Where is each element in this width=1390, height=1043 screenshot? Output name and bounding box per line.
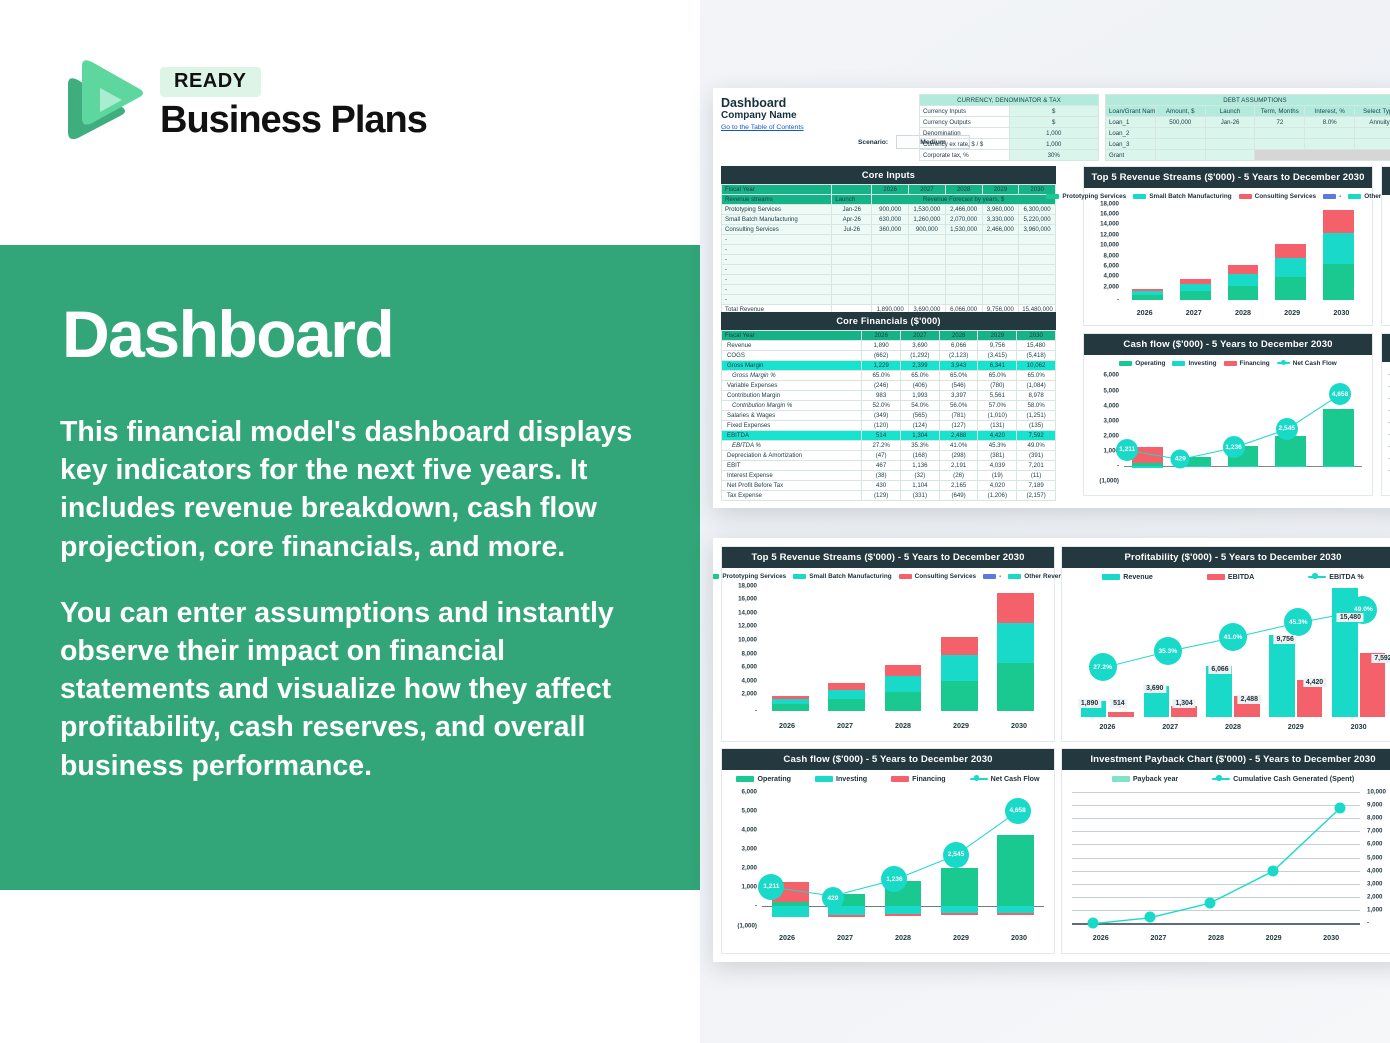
ci-value: 2,466,000	[982, 225, 1019, 235]
cf-value: (11)	[1017, 471, 1056, 481]
cf-value: (781)	[939, 411, 978, 421]
y-tick: 18,000	[1100, 200, 1119, 207]
cf-value: (1,251)	[1017, 411, 1056, 421]
legend-item[interactable]: Operating	[1119, 360, 1165, 367]
chart-title: Top 5 Revenue Streams ($'000) - 5 Years …	[722, 547, 1054, 568]
table-row[interactable]: -	[722, 235, 1056, 245]
bar-group[interactable]	[1275, 202, 1306, 301]
data-point-label: 1,211	[1116, 439, 1138, 461]
chart-legend: Prototyping Services Small Batch Manufac…	[722, 568, 1054, 582]
chart-revenue-streams: Top 5 Revenue Streams ($'000) - 5 Years …	[721, 546, 1055, 742]
ci-value	[1019, 255, 1056, 265]
chart-plot-area: 6,000 5,000 4,000 3,000 2,000 1,000 - (1…	[1088, 369, 1368, 485]
table-row: Gross Margin1,2292,3993,9436,34110,062	[722, 361, 1056, 371]
table-row: Contribution Margin9831,9933,3975,5618,9…	[722, 391, 1056, 401]
chart-cash-flow: Cash flow ($'000) - 5 Years to December …	[721, 748, 1055, 954]
ci-value	[872, 255, 909, 265]
legend-label: Small Batch Manufacturing	[809, 573, 891, 580]
ci-value	[1019, 295, 1056, 305]
cf-label: Tax Expense	[722, 491, 862, 501]
ci-stream-name: -	[722, 245, 832, 255]
cf-value: (47)	[862, 451, 901, 461]
table-row[interactable]: Loan_2	[1106, 128, 1390, 139]
debt-cell	[1305, 128, 1355, 139]
cf-value: (331)	[901, 491, 940, 501]
cf-value: (662)	[862, 351, 901, 361]
cf-value: (38)	[862, 471, 901, 481]
x-tick: 2026	[1137, 308, 1153, 317]
ci-value: 900,000	[872, 205, 909, 215]
x-tick: 2029	[1288, 722, 1304, 731]
currency-row-value[interactable]: $	[1009, 117, 1099, 128]
chart-legend: Operating Investing Financing Net Cash F…	[722, 770, 1054, 785]
chart-plot-area: 18,000 16,000 14,000 12,000 10,000 8,000…	[726, 582, 1050, 718]
ci-year: 2027	[909, 185, 946, 195]
y-tick: 6,000	[1104, 262, 1119, 269]
legend-label: -	[1339, 193, 1341, 200]
legend-label: EBITDA	[1228, 573, 1254, 581]
currency-row-value[interactable]: 1,000	[1009, 139, 1099, 150]
table-row[interactable]: Prototyping Services Jan-26 900,000 1,53…	[722, 205, 1056, 215]
currency-row-label: Currency ex rate, $ / $	[920, 139, 1010, 150]
ci-value: 360,000	[872, 225, 909, 235]
x-tick: 2026	[779, 721, 795, 730]
ci-value	[1019, 265, 1056, 275]
bar-group[interactable]	[1228, 202, 1259, 301]
cf-value: 1,136	[901, 461, 940, 471]
brand-logo: READY Business Plans	[62, 58, 427, 148]
x-tick: 2028	[1235, 308, 1251, 317]
table-row[interactable]: Consulting Services Jul-26 360,000 900,0…	[722, 225, 1056, 235]
chart-investment-payback: Investment Payback Chart ($'000) - 5 Yea…	[1061, 748, 1390, 954]
currency-row-value[interactable]: 1,000	[1009, 128, 1099, 139]
cf-value: (349)	[862, 411, 901, 421]
cf-value: 8,978	[1017, 391, 1056, 401]
cf-value: (124)	[901, 421, 940, 431]
legend-item[interactable]: EBITDA	[1207, 573, 1254, 581]
cf-value: 41.0%	[939, 441, 978, 451]
bar-value-label: 3,690	[1143, 684, 1166, 693]
legend-item[interactable]: Cumulative Cash Generated (Spent)	[1212, 775, 1354, 783]
cf-value: 6,066	[939, 341, 978, 351]
ci-stream-name: -	[722, 235, 832, 245]
ci-value	[1019, 285, 1056, 295]
table-row: Contribution Margin %52.0%54.0%56.0%57.0…	[722, 401, 1056, 411]
cf-value: 7,592	[1017, 431, 1056, 441]
cf-value: (131)	[978, 421, 1017, 431]
cf-value: (32)	[901, 471, 940, 481]
legend-item[interactable]: Net Cash Flow	[970, 775, 1040, 783]
debt-cell	[1155, 128, 1205, 139]
debt-cell: Annuity	[1355, 117, 1390, 128]
x-tick: 2027	[1162, 722, 1178, 731]
ci-value	[945, 235, 982, 245]
x-tick: 2030	[1323, 933, 1339, 942]
cf-year: 2026	[862, 331, 901, 341]
dashboard-sheet-bottom: Top 5 Revenue Streams ($'000) - 5 Years …	[713, 538, 1390, 962]
data-point	[1334, 802, 1345, 813]
cf-value: 56.0%	[939, 401, 978, 411]
legend-item[interactable]: Net Cash Flow	[1277, 360, 1337, 367]
legend-label: Investing	[836, 775, 867, 783]
x-tick: 2029	[1284, 308, 1300, 317]
ci-year-spacer	[832, 185, 872, 195]
legend-label: Net Cash Flow	[1293, 360, 1337, 367]
debt-cell	[1255, 139, 1305, 150]
data-point	[1268, 865, 1279, 876]
cf-value: (1,206)	[978, 491, 1017, 501]
ci-stream-name: -	[722, 265, 832, 275]
bar-group[interactable]	[772, 582, 809, 711]
spreadsheet-area: Dashboard Company Name Go to the Table o…	[713, 88, 1390, 508]
cf-value: 15,480	[1017, 341, 1056, 351]
bar-value-label: 7,592	[1371, 654, 1390, 663]
x-tick: 2029	[953, 721, 969, 730]
legend-item[interactable]: Prototyping Services	[713, 573, 786, 580]
debt-cell: Loan_2	[1106, 128, 1156, 139]
table-row[interactable]: -	[722, 265, 1056, 275]
legend-label: Financing	[912, 775, 946, 783]
cf-value: (120)	[862, 421, 901, 431]
table-row[interactable]: -	[722, 275, 1056, 285]
data-point-label: 429	[1171, 449, 1190, 468]
cf-value: (780)	[978, 381, 1017, 391]
cf-value: 49.0%	[1017, 441, 1056, 451]
debt-cell	[1355, 128, 1390, 139]
ci-value	[909, 285, 946, 295]
debt-col-header: Term, Months	[1255, 106, 1305, 117]
y-tick: 16,000	[1100, 210, 1119, 217]
legend-item[interactable]: Financing	[1224, 360, 1270, 367]
core-financials-table: Core Financials ($'000) Fiscal Year 2026…	[721, 312, 1056, 501]
bar-value-label: 9,756	[1274, 635, 1297, 644]
data-point	[1087, 918, 1098, 929]
cf-value: 514	[862, 431, 901, 441]
cf-value: (26)	[939, 471, 978, 481]
cf-value: 467	[862, 461, 901, 471]
x-tick: 2028	[1225, 722, 1241, 731]
cf-label: EBITDA %	[722, 441, 862, 451]
ci-value: 2,466,000	[945, 205, 982, 215]
cf-label: Contribution Margin	[722, 391, 862, 401]
debt-cell: Grant	[1106, 150, 1156, 161]
hero-description: This financial model's dashboard display…	[60, 413, 660, 785]
ci-value	[982, 285, 1019, 295]
debt-cell	[1205, 150, 1255, 161]
legend-item[interactable]: Investing	[815, 775, 867, 783]
data-point-label: 1,236	[1223, 436, 1245, 458]
ci-value	[872, 245, 909, 255]
ci-value	[909, 275, 946, 285]
ci-launch	[832, 265, 872, 275]
cf-value: (1,010)	[978, 411, 1017, 421]
currency-row-value[interactable]: $	[1009, 106, 1099, 117]
cf-value: 57.0%	[978, 401, 1017, 411]
debt-cell	[1205, 139, 1255, 150]
ci-value	[909, 265, 946, 275]
table-row[interactable]: Small Batch Manufacturing Apr-26 630,000…	[722, 215, 1056, 225]
bar-group[interactable]	[885, 582, 922, 711]
debt-cell	[1305, 139, 1355, 150]
ci-value	[1019, 275, 1056, 285]
ci-stream-name: -	[722, 295, 832, 305]
debt-col-header: Select Type	[1355, 106, 1390, 117]
legend-label: Prototyping Services	[1062, 193, 1126, 200]
ci-value: 1,530,000	[945, 225, 982, 235]
table-row: Revenue1,8903,6906,0669,75615,480	[722, 341, 1056, 351]
bar-value-label: 6,066	[1208, 665, 1231, 674]
bar-group[interactable]	[828, 582, 865, 711]
x-tick: 2030	[1011, 721, 1027, 730]
cf-value: (565)	[901, 411, 940, 421]
y-axis: 18,000 16,000 14,000 12,000 10,000 8,000…	[1088, 202, 1122, 306]
legend-label: Payback year	[1133, 775, 1178, 783]
ci-launch	[832, 285, 872, 295]
ci-value	[982, 255, 1019, 265]
fiscal-year-label: Fiscal Year	[722, 185, 832, 195]
x-tick: 2028	[895, 721, 911, 730]
bar-group[interactable]	[1180, 202, 1211, 301]
ci-value: 3,960,000	[982, 205, 1019, 215]
cf-value: 65.0%	[901, 371, 940, 381]
cf-year: 2030	[1017, 331, 1056, 341]
cf-value: (1,084)	[1017, 381, 1056, 391]
cf-value: (391)	[1017, 451, 1056, 461]
chart-plot-area: 6,000 5,000 4,000 3,000 2,000 1,000 - (1…	[726, 785, 1050, 931]
legend-label: Net Cash Flow	[991, 775, 1040, 783]
page-title: Dashboard	[62, 296, 393, 372]
table-row: COGS(662)(1,292)(2,123)(3,415)(5,418)	[722, 351, 1056, 361]
currency-row-value[interactable]: 30%	[1009, 150, 1099, 161]
ci-value	[1019, 235, 1056, 245]
cf-value: 430	[862, 481, 901, 491]
ci-stream-name: Prototyping Services	[722, 205, 832, 215]
ci-value	[872, 285, 909, 295]
y-tick: -	[1117, 297, 1119, 304]
cf-label: Revenue	[722, 341, 862, 351]
x-axis: 2026 2027 2028 2029 2030	[1120, 308, 1366, 317]
legend-label: Operating	[757, 775, 791, 783]
table-row: Fixed Expenses(120)(124)(127)(131)(135)	[722, 421, 1056, 431]
legend-item[interactable]: Small Batch Manufacturing	[793, 573, 891, 580]
y-tick: 16,000	[738, 596, 757, 603]
ci-value: 3,960,000	[1019, 225, 1056, 235]
currency-row-label: Denomination	[920, 128, 1010, 139]
legend-item[interactable]: Small Batch Manufacturing	[1133, 193, 1231, 200]
cf-value: 65.0%	[978, 371, 1017, 381]
cf-value: 65.0%	[939, 371, 978, 381]
data-point-label: 1,211	[758, 874, 784, 900]
debt-cell: Loan_3	[1106, 139, 1156, 150]
cf-value: 10,062	[1017, 361, 1056, 371]
debt-cell: Jan-26	[1205, 117, 1255, 128]
cf-value: 7,201	[1017, 461, 1056, 471]
ci-launch: Jul-26	[832, 225, 872, 235]
cf-value: 2,488	[939, 431, 978, 441]
cf-value: 5,561	[978, 391, 1017, 401]
cf-value: 4,020	[978, 481, 1017, 491]
bar-group[interactable]	[1132, 202, 1163, 301]
scenario-label: Scenario:	[858, 139, 888, 146]
chart-legend: Operating Investing Financing Net Cash F…	[1084, 355, 1372, 369]
table-row[interactable]: -	[722, 245, 1056, 255]
y-tick: 4,000	[1104, 273, 1119, 280]
ci-value	[909, 235, 946, 245]
cf-label: Gross Margin %	[722, 371, 862, 381]
y-tick: 8,000	[742, 650, 757, 657]
net-cash-flow-line	[726, 785, 1050, 931]
ci-value	[982, 275, 1019, 285]
legend-item[interactable]: -	[983, 573, 1001, 580]
legend-item[interactable]: Financing	[891, 775, 946, 783]
ci-launch: Jan-26	[832, 205, 872, 215]
forecast-label: Revenue Forecast by years, $	[872, 195, 1056, 205]
ci-launch	[832, 235, 872, 245]
cf-label: EBIT	[722, 461, 862, 471]
currency-denominator-tax-table: CURRENCY, DENOMINATOR & TAX Currency Inp…	[919, 94, 1099, 161]
ci-value	[872, 235, 909, 245]
chart-plot-area: 27.2% 35.3% 41.0% 45.3% 49.0% 1,890 514 …	[1070, 583, 1390, 720]
data-point	[1204, 897, 1215, 908]
cf-value: 1,104	[901, 481, 940, 491]
legend-item[interactable]: EBITDA %	[1308, 573, 1363, 581]
chart-title: Cash flow ($'000) - 5 Years to December …	[1084, 334, 1372, 355]
ready-badge: READY	[160, 67, 261, 97]
legend-item[interactable]: Operating	[736, 775, 791, 783]
x-tick: 2027	[837, 721, 853, 730]
cf-value: 3,397	[939, 391, 978, 401]
legend-item[interactable]: -	[1323, 193, 1341, 200]
ci-stream-name: -	[722, 255, 832, 265]
cf-value: 9,756	[978, 341, 1017, 351]
table-row: EBITDA5141,3042,4884,4207,592	[722, 431, 1056, 441]
launch-label: Launch	[832, 195, 872, 205]
cf-value: 65.0%	[862, 371, 901, 381]
bar-value-label: 1,890	[1078, 699, 1101, 708]
x-tick: 2027	[1150, 933, 1166, 942]
chart-plot-area: 27.2% 1,890	[1382, 195, 1390, 305]
table-row[interactable]: Loan_3	[1106, 139, 1390, 150]
table-row[interactable]: Loan_1 500,000 Jan-26 72 8.0% Annuity	[1106, 117, 1390, 128]
cf-value: 7,189	[1017, 481, 1056, 491]
ci-value	[945, 265, 982, 275]
x-tick: 2028	[1208, 933, 1224, 942]
cf-value: 1,890	[862, 341, 901, 351]
table-row[interactable]: -	[722, 295, 1056, 305]
y-tick: 8,000	[1104, 252, 1119, 259]
legend-item[interactable]: Consulting Services	[899, 573, 976, 580]
core-inputs-band: Core Inputs	[721, 166, 1056, 184]
legend-label: -	[999, 573, 1001, 580]
page-background-bottom-left	[0, 890, 700, 1043]
data-point-label: 2,545	[1276, 418, 1298, 440]
debt-cell: 500,000	[1155, 117, 1205, 128]
cf-value: 983	[862, 391, 901, 401]
debt-cell: 72	[1255, 117, 1305, 128]
y-tick: 10,000	[1100, 242, 1119, 249]
debt-cell	[1255, 128, 1305, 139]
ci-launch: Apr-26	[832, 215, 872, 225]
currency-row-label: Currency Outputs	[920, 117, 1010, 128]
table-row[interactable]: -	[722, 285, 1056, 295]
y-tick: 10,000	[738, 636, 757, 643]
cf-value: (246)	[862, 381, 901, 391]
cf-value: (381)	[978, 451, 1017, 461]
debt-cell	[1205, 128, 1255, 139]
cf-year: 2028	[939, 331, 978, 341]
cf-value: (129)	[862, 491, 901, 501]
ci-value	[945, 285, 982, 295]
legend-item[interactable]: Payback year	[1112, 775, 1178, 783]
currency-table-header: CURRENCY, DENOMINATOR & TAX	[920, 95, 1099, 106]
cf-value: (127)	[939, 421, 978, 431]
bar-value-label: 1,304	[1172, 699, 1195, 708]
data-point-label: 1,236	[881, 866, 907, 892]
x-tick: 2029	[1266, 933, 1282, 942]
legend-item[interactable]: Prototyping Services	[1046, 193, 1126, 200]
cf-year: 2027	[901, 331, 940, 341]
cf-label: EBITDA	[722, 431, 862, 441]
debt-col-header: Amount, $	[1155, 106, 1205, 117]
legend-item[interactable]: Revenue	[1102, 573, 1153, 581]
x-tick: 2026	[779, 933, 795, 942]
cf-value: (2,123)	[939, 351, 978, 361]
table-row[interactable]: Grant	[1106, 150, 1390, 161]
cf-value: (19)	[978, 471, 1017, 481]
cf-value: (3,415)	[978, 351, 1017, 361]
table-row[interactable]: -	[722, 255, 1056, 265]
legend-label: Prototyping Services	[722, 573, 786, 580]
chart-title: Investment Payback Chart ($'000) - 5 Yea…	[1062, 749, 1390, 770]
bar-group[interactable]	[941, 582, 978, 711]
chart-legend: Payback year Cumulative Cash Generated (…	[1062, 770, 1390, 785]
chart-plot-area	[1382, 362, 1390, 482]
ci-value: 630,000	[872, 215, 909, 225]
chart-title: Cash flow ($'000) - 5 Years to December …	[722, 749, 1054, 770]
ci-value	[945, 295, 982, 305]
ci-value: 900,000	[909, 225, 946, 235]
chart-title: Profitability ($'000) - 5 Years to Decem…	[1382, 167, 1390, 195]
cf-value: 6,341	[978, 361, 1017, 371]
debt-col-header: Interest, %	[1305, 106, 1355, 117]
x-tick: 2030	[1011, 933, 1027, 942]
bar-value-label: 15,480	[1337, 613, 1364, 622]
bar-group[interactable]	[1323, 202, 1354, 301]
ci-stream-name: Consulting Services	[722, 225, 832, 235]
revenue-streams-label: Revenue streams	[722, 195, 832, 205]
table-row: Variable Expenses(246)(406)(546)(780)(1,…	[722, 381, 1056, 391]
chart-title: Profitability ($'000) - 5 Years to Decem…	[1062, 547, 1390, 568]
data-point-label: 4,658	[1329, 383, 1351, 405]
ci-value: 2,070,000	[945, 215, 982, 225]
ci-year: 2026	[872, 185, 909, 195]
ci-stream-name: Small Batch Manufacturing	[722, 215, 832, 225]
chart-plot-area: 18,000 16,000 14,000 12,000 10,000 8,000…	[1088, 202, 1368, 306]
y-axis: 18,000 16,000 14,000 12,000 10,000 8,000…	[726, 582, 760, 718]
table-row: EBITDA %27.2%35.3%41.0%45.3%49.0%	[722, 441, 1056, 451]
legend-item[interactable]: Consulting Services	[1239, 193, 1316, 200]
ci-value	[872, 265, 909, 275]
chart-title: Top 5 Revenue Streams ($'000) - 5 Years …	[1084, 167, 1372, 188]
legend-item[interactable]: Investing	[1172, 360, 1216, 367]
chart-cash-flow-top: Cash flow ($'000) - 5 Years to December …	[1083, 333, 1373, 496]
bar-group[interactable]	[997, 582, 1034, 711]
debt-cell	[1155, 150, 1205, 161]
x-axis: 2026 2027 2028 2029 2030	[1076, 722, 1390, 731]
legend-label: Cumulative Cash Generated (Spent)	[1233, 775, 1354, 783]
table-of-contents-link[interactable]: Go to the Table of Contents	[721, 124, 804, 131]
ci-launch	[832, 245, 872, 255]
